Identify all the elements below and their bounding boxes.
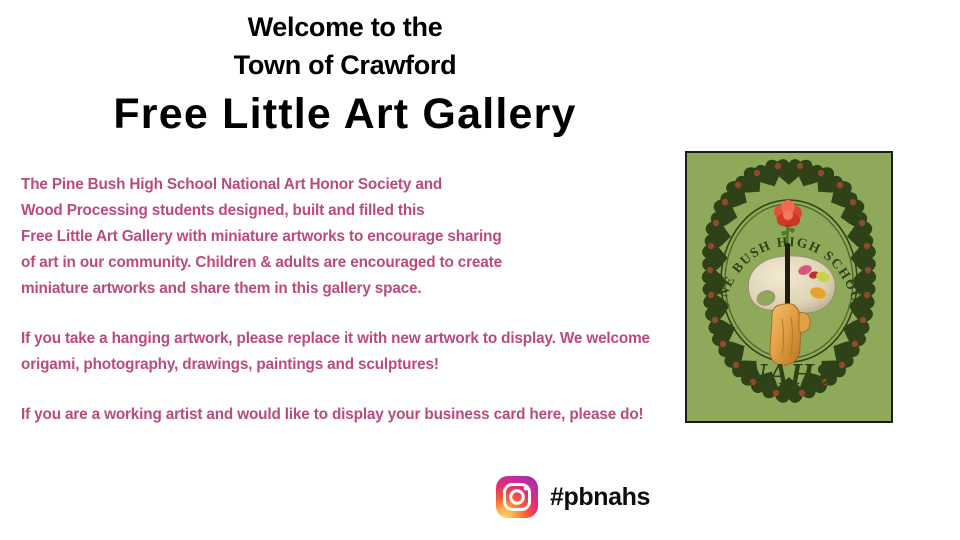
- nahs-logo: PINE BUSH HIGH SCHOOL: [685, 151, 893, 423]
- paragraph-description: The Pine Bush High School National Art H…: [21, 172, 676, 302]
- page-title: Free Little Art Gallery: [0, 86, 690, 142]
- welcome-line-1: Welcome to the: [0, 8, 690, 46]
- nahs-logo-graphic: PINE BUSH HIGH SCHOOL: [687, 153, 891, 421]
- logo-wordmark: NAHS: [744, 356, 833, 391]
- instagram-row[interactable]: #pbnahs: [496, 476, 650, 518]
- body-copy: The Pine Bush High School National Art H…: [21, 172, 676, 428]
- paragraph-instructions: If you take a hanging artwork, please re…: [21, 326, 676, 378]
- paragraph-business-card: If you are a working artist and would li…: [21, 402, 676, 428]
- instagram-handle[interactable]: #pbnahs: [550, 476, 650, 518]
- instagram-icon[interactable]: [496, 476, 538, 518]
- heading-block: Welcome to the Town of Crawford Free Lit…: [0, 0, 690, 142]
- welcome-line-2: Town of Crawford: [0, 46, 690, 84]
